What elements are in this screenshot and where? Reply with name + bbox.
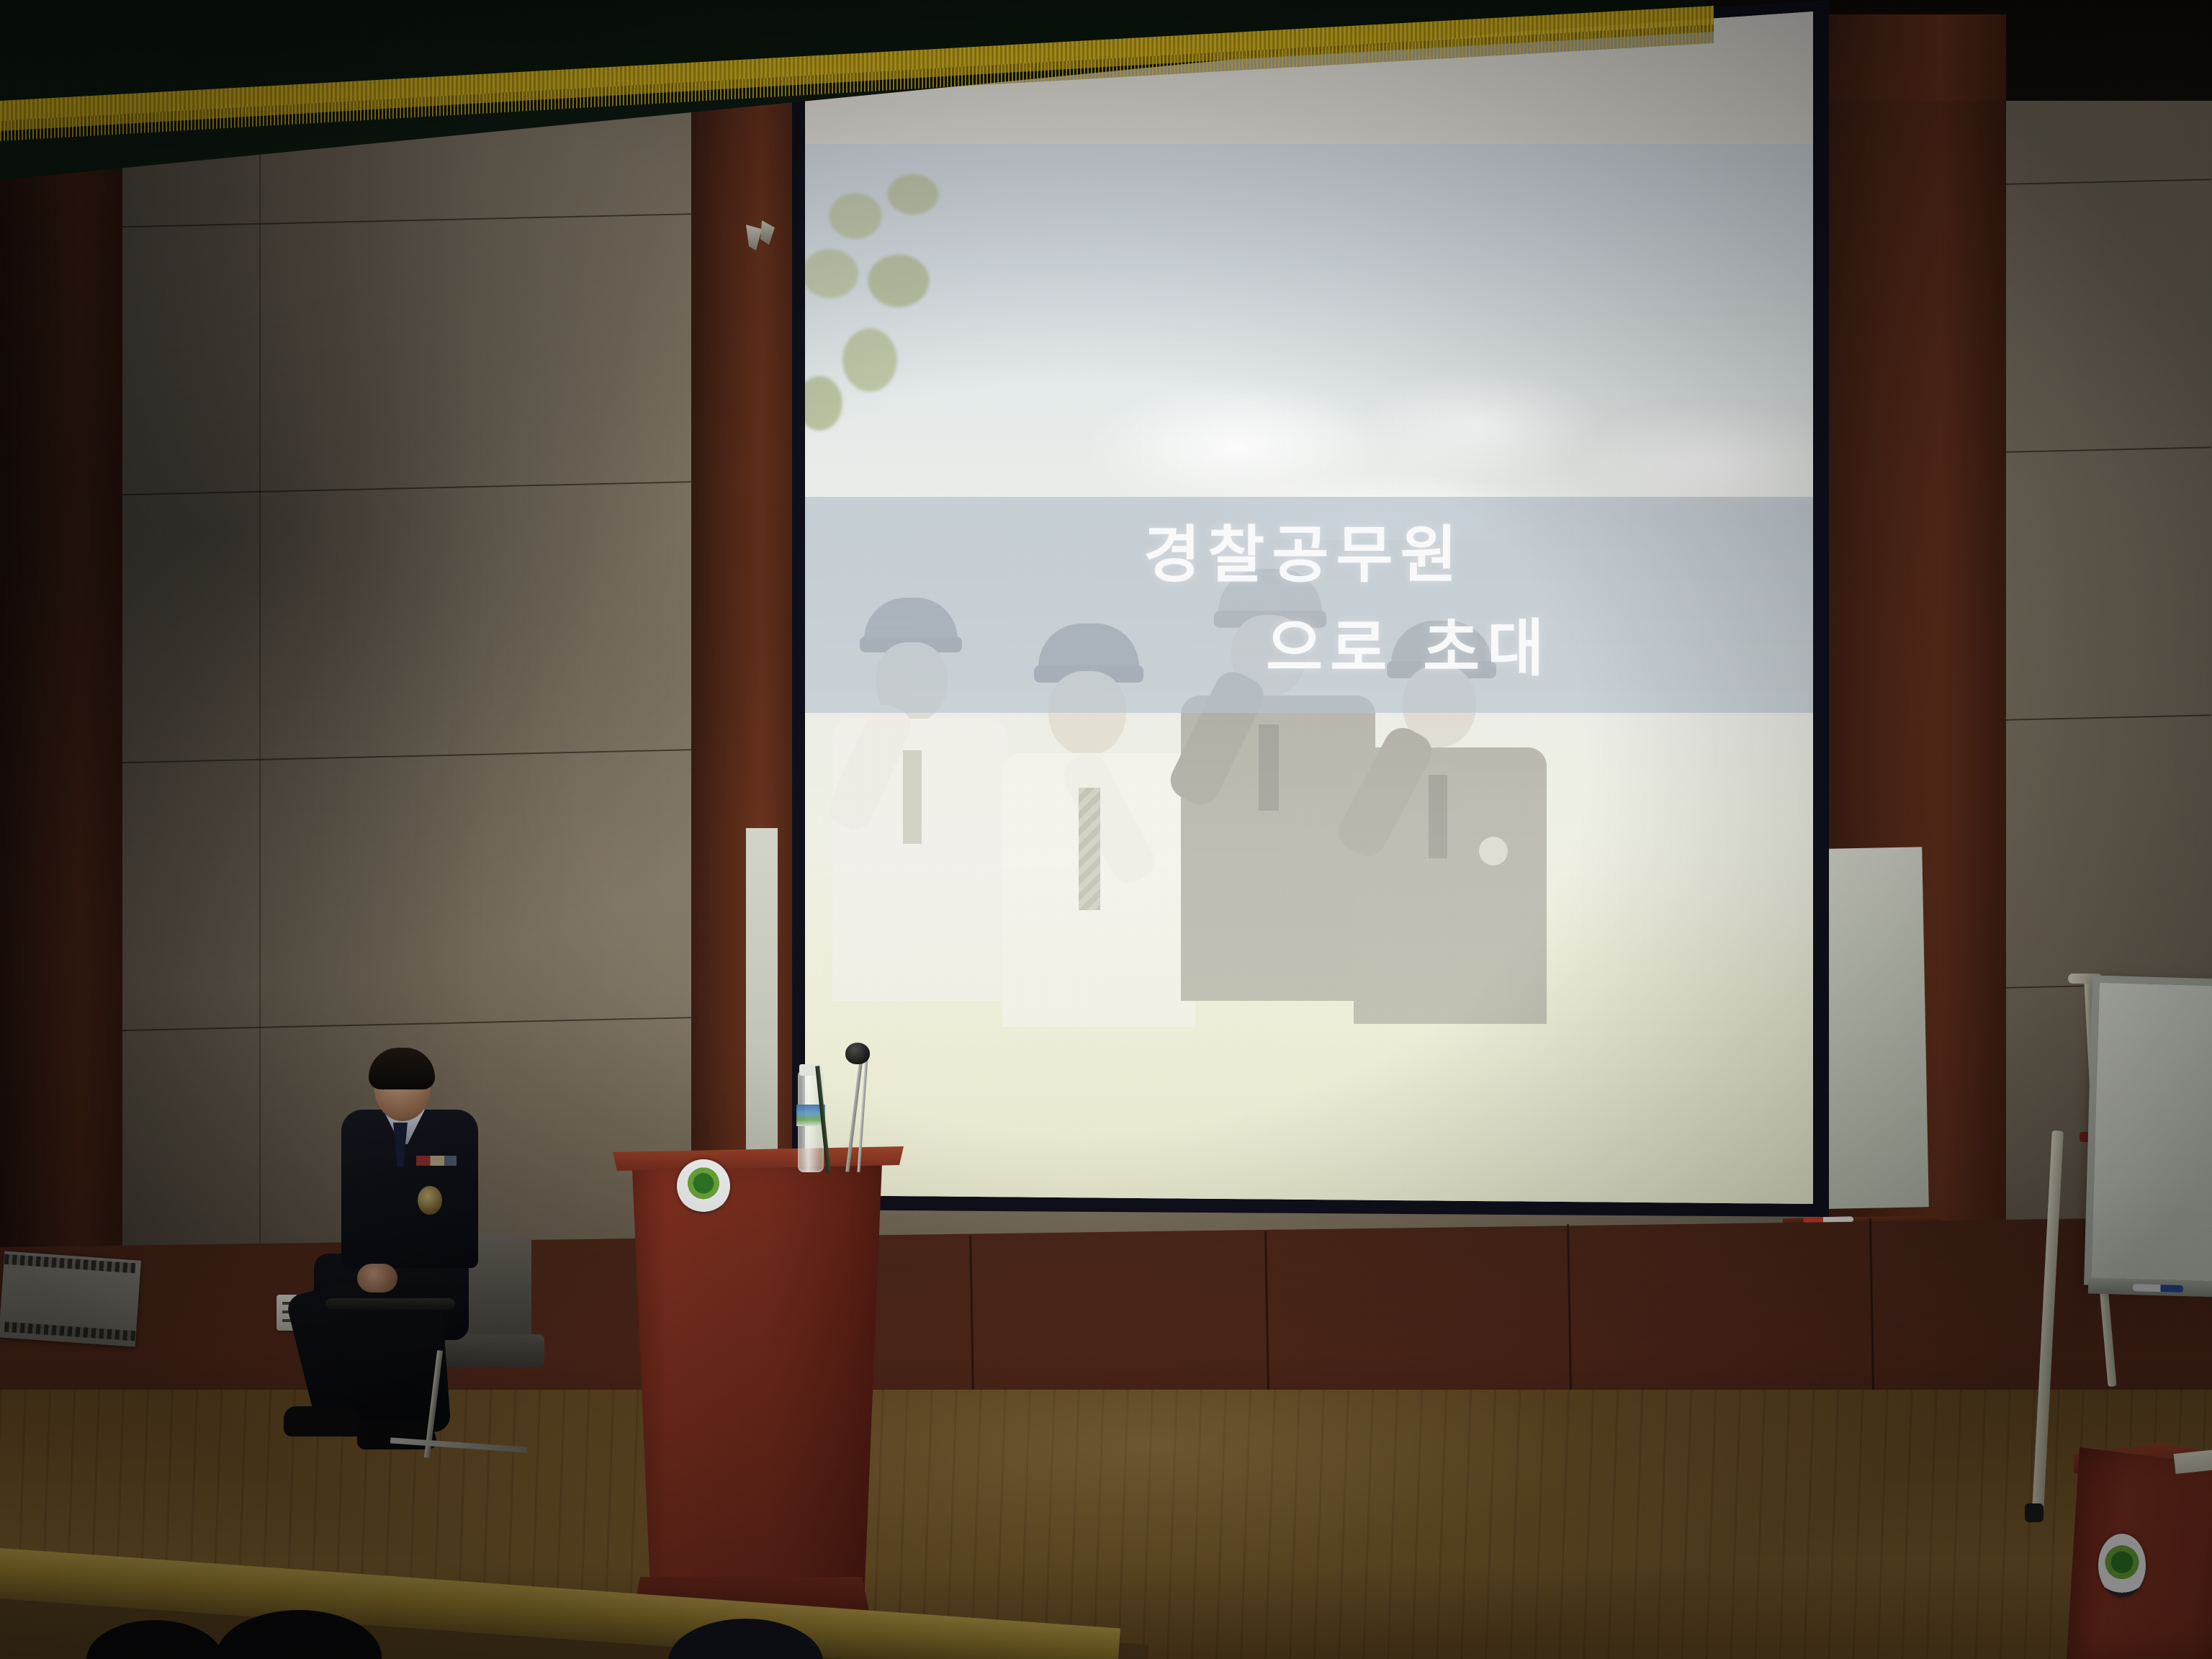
projection-screen: 경찰공무원 으로 초대	[805, 0, 1822, 1224]
microphone-icon[interactable]	[845, 1043, 870, 1064]
easel-foot	[2025, 1503, 2044, 1522]
officer-shoe	[284, 1406, 363, 1437]
lectern-emblem-icon	[677, 1159, 730, 1213]
second-lectern-emblem-icon	[2098, 1534, 2146, 1597]
seated-officer	[288, 1048, 526, 1437]
slide-washout-haze	[805, 0, 1813, 1224]
officer-ribbon-bar	[416, 1156, 457, 1166]
chair-armrest	[325, 1298, 455, 1310]
officer-hair	[369, 1048, 435, 1089]
marker-pen-icon[interactable]	[2133, 1284, 2183, 1292]
officer-badge-icon	[418, 1186, 442, 1215]
officer-hands	[357, 1264, 397, 1292]
whiteboard[interactable]	[2084, 975, 2212, 1292]
wall-whiteboard-strip	[746, 828, 778, 1174]
lectern-papers	[2174, 1449, 2212, 1474]
auditorium-scene: 경찰공무원 으로 초대	[0, 0, 2212, 1659]
